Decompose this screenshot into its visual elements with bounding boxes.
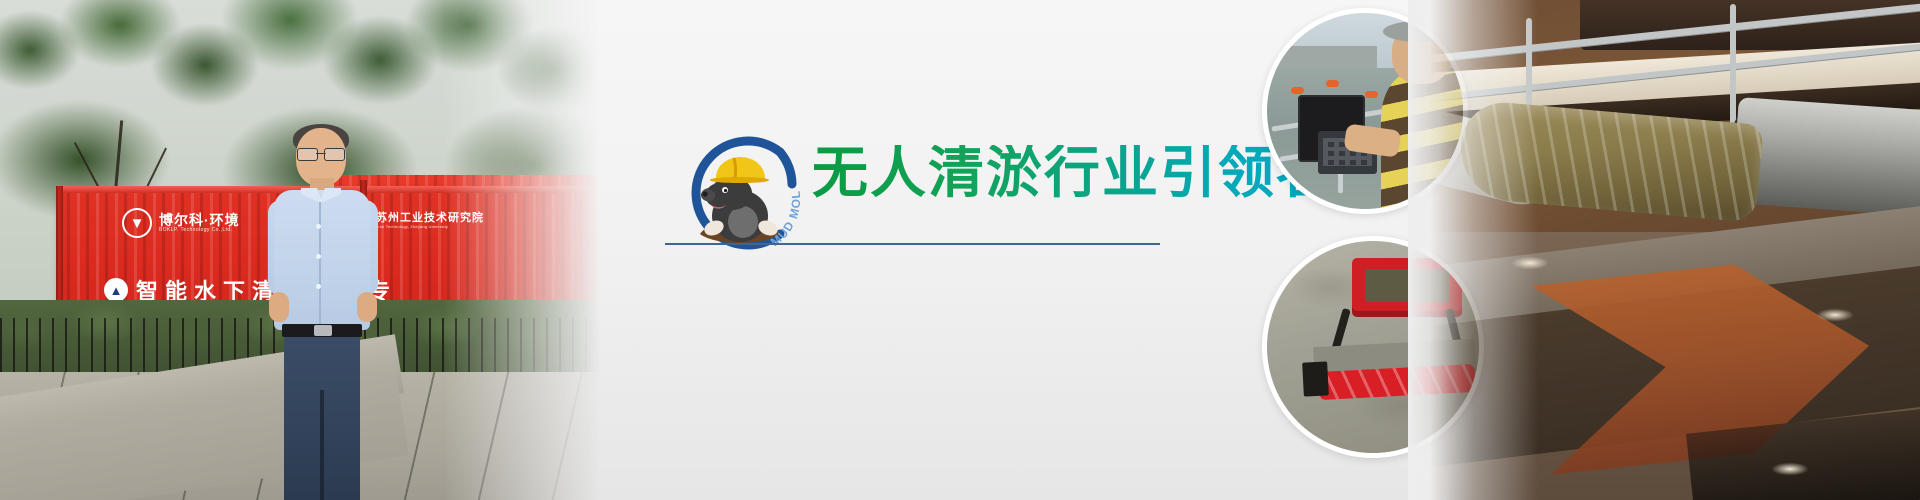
person-left-hand bbox=[269, 292, 289, 322]
robot-side-gearbox bbox=[1302, 361, 1329, 396]
scum-patch bbox=[1760, 300, 1910, 330]
logo-mole-belly bbox=[728, 206, 758, 238]
container-brand-en: BOKLP. Technology Co.,Ltd. bbox=[159, 228, 240, 233]
scum-patch bbox=[1690, 452, 1890, 486]
left-photo: ▼ 博尔科·环境 BOKLP. Technology Co.,Ltd. ▲ 浙江… bbox=[0, 0, 600, 500]
person-right-hand bbox=[357, 292, 377, 322]
water-float bbox=[1365, 91, 1378, 98]
guard-rail-post bbox=[1730, 4, 1736, 134]
container-brand-block: ▼ 博尔科·环境 BOKLP. Technology Co.,Ltd. bbox=[122, 208, 240, 238]
eyeglasses-icon bbox=[297, 148, 345, 160]
shirt-placket bbox=[319, 202, 321, 326]
boklp-mark-icon: ▼ bbox=[122, 208, 152, 238]
shirt-button bbox=[316, 224, 321, 229]
logo-ring-tip bbox=[780, 152, 792, 184]
logo-hard-hat-brim bbox=[710, 177, 769, 183]
belt-buckle bbox=[314, 325, 332, 336]
shirt-button bbox=[316, 254, 321, 259]
divider-line bbox=[665, 243, 1160, 245]
logo-mole-nose bbox=[702, 191, 707, 196]
logo-mole-pupil bbox=[724, 189, 727, 192]
headline: 无人清淤行业引领者 bbox=[812, 145, 1334, 201]
jeans-inseam bbox=[320, 390, 324, 500]
hero-banner: ▼ 博尔科·环境 BOKLP. Technology Co.,Ltd. ▲ 浙江… bbox=[0, 0, 1920, 500]
shirt-button bbox=[316, 284, 321, 289]
right-photo bbox=[1430, 0, 1920, 500]
logo-hat-ridge bbox=[734, 158, 736, 178]
slogan-badge-icon: ▲ bbox=[104, 278, 128, 302]
person-executive bbox=[268, 128, 378, 500]
water-float bbox=[1326, 80, 1339, 87]
center-content: MUD MOLE 无人清淤行业引领者 bbox=[640, 0, 1280, 500]
scum-patch bbox=[1470, 250, 1590, 276]
water-float bbox=[1291, 87, 1304, 94]
logo-hard-hat bbox=[716, 157, 765, 180]
container-brand-cn: 博尔科·环境 bbox=[159, 213, 240, 228]
